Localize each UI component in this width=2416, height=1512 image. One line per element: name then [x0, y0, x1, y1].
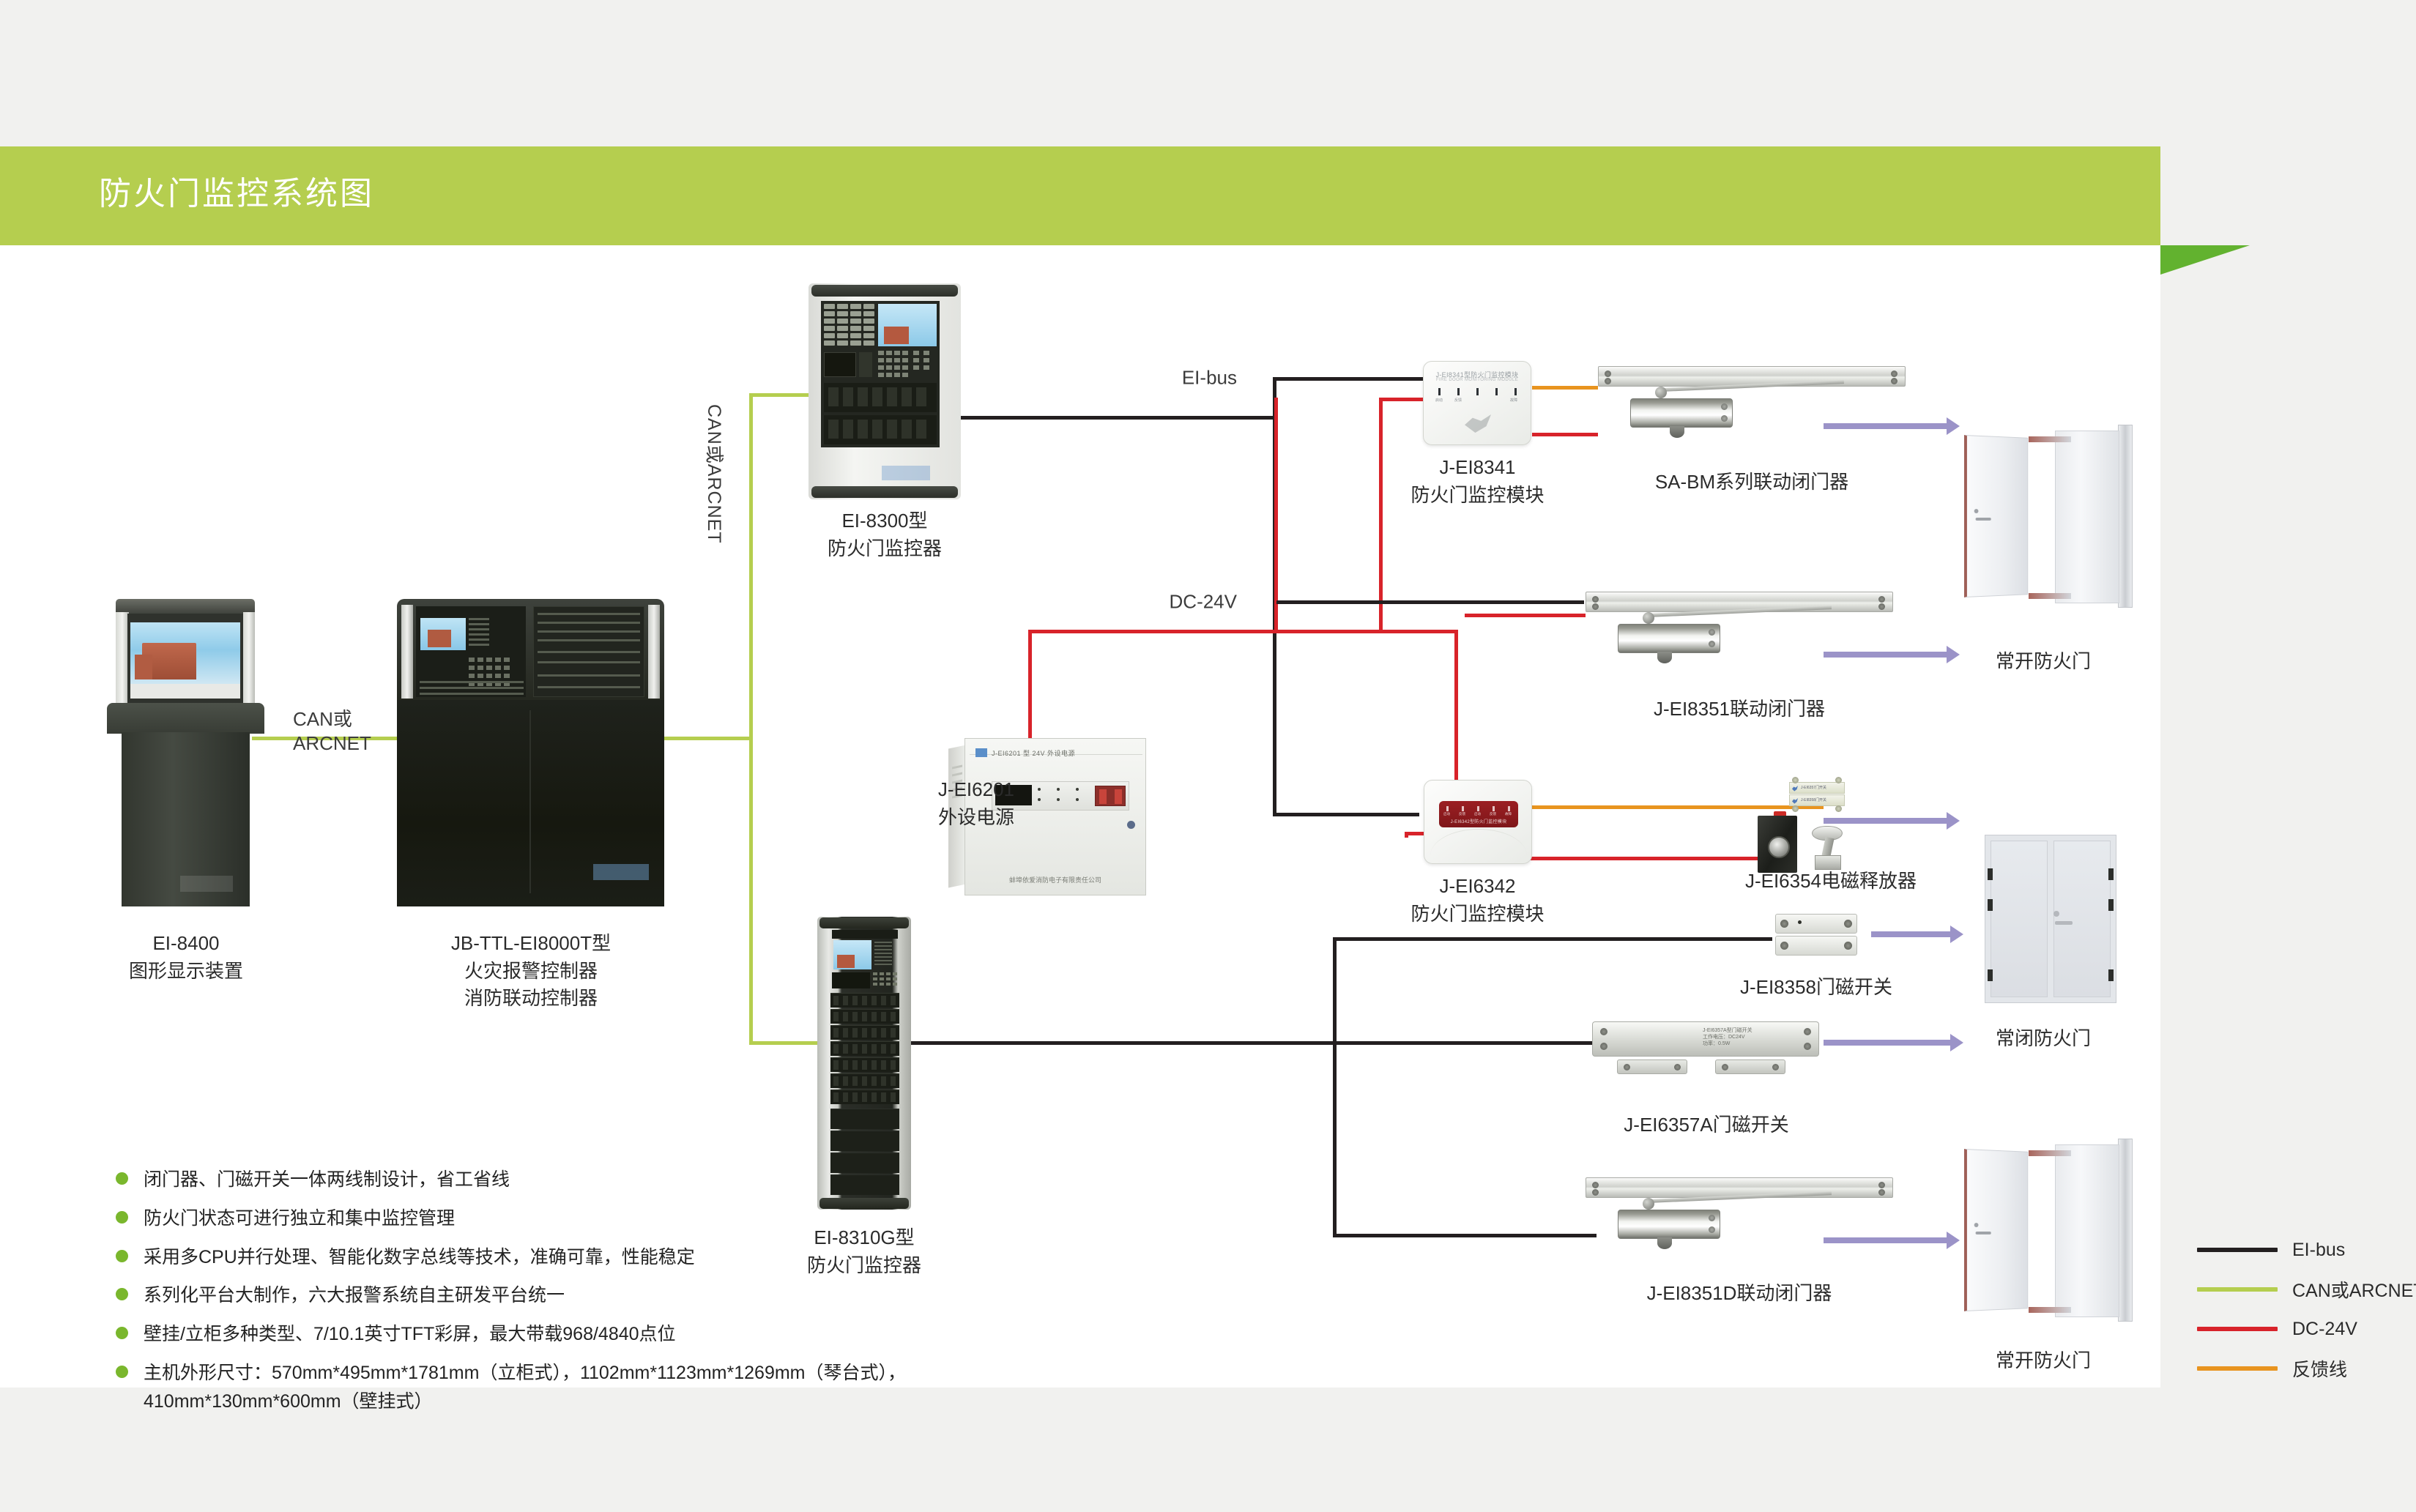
- device-ei8400-graphic-display[interactable]: [107, 599, 264, 906]
- door-switch-row-2: J-EI8358门开关: [1789, 794, 1845, 806]
- door-threshold-bottom-2: [2029, 1307, 2071, 1313]
- door-normally-closed-middle: [1985, 835, 2116, 1003]
- wire-ei-bus-from-ei8310g: [911, 1041, 1336, 1045]
- ei8358-indicator-dot: [1798, 920, 1802, 924]
- ei8300-bottom-cap: [811, 486, 958, 498]
- ei8310g-module-slot: [830, 1009, 899, 1024]
- ei6342-led-label-2: 启动: [1474, 812, 1481, 816]
- ei8300-printer-slot: [824, 352, 856, 377]
- ei6357a-label-block: J-EI6357A型门磁开关 工作电压：DC24V 功率：0.5W: [1703, 1028, 1752, 1047]
- ei8400-screen-housing: [127, 614, 243, 709]
- caption-ei8400-desc: 图形显示装置: [105, 958, 267, 986]
- door-right-leaf-middle: [2053, 841, 2111, 997]
- wire-ei-bus-lower-vertical: [1333, 937, 1337, 1237]
- ei8310g-top-cap: [819, 917, 909, 928]
- ei8300-led-bank-upper: [824, 383, 937, 412]
- caption-ei8400: EI-8400 图形显示装置: [105, 930, 267, 985]
- device-ei6342-monitoring-module[interactable]: 启动 反馈 启动 反馈 故障 J-EI6342型防火门监控模块: [1424, 780, 1532, 864]
- ei8310g-header-label: [832, 930, 898, 939]
- ei8400-right-rail: [243, 612, 255, 707]
- caption-ei8300-desc: 防火门监控器: [806, 535, 964, 563]
- ei8300-model-label: [882, 466, 930, 480]
- arrow-to-top-door-lower: [1824, 652, 1948, 658]
- door-threshold-top-2: [2029, 1150, 2071, 1156]
- caption-jbttl-name: JB-TTL-EI8000T型: [395, 930, 666, 958]
- label-ei-bus: EI-bus: [1182, 367, 1256, 390]
- ei8300-screen-building-image: [884, 327, 909, 344]
- ei8341-led-label-0: 启动: [1435, 398, 1443, 403]
- ei8351-pivot: [1643, 612, 1654, 624]
- caption-ei6354: J-EI6354电磁释放器: [1684, 868, 1977, 895]
- ei8351d-closer-body: [1618, 1210, 1720, 1239]
- ei6342-panel-text: J-EI6342型防火门监控模块: [1439, 818, 1518, 824]
- ei6357a-mount-pad-left: [1617, 1059, 1687, 1074]
- ei8310g-led-column: [874, 940, 898, 969]
- ei8310g-module-slot: [830, 1073, 899, 1088]
- ei8400-top-bar: [116, 599, 255, 615]
- caption-jbttl: JB-TTL-EI8000T型 火灾报警控制器 消防联动控制器: [395, 930, 666, 1013]
- bullet-item-2: 采用多CPU并行处理、智能化数字总线等技术，准确可靠，性能稳定: [116, 1243, 980, 1272]
- caption-sabm: SA-BM系列联动闭门器: [1598, 469, 1906, 496]
- wire-ei-bus-to-ei8351: [1276, 600, 1584, 604]
- ei8358-lower-part: [1775, 936, 1857, 956]
- legend-row-ei-bus: EI-bus: [2197, 1230, 2416, 1270]
- sabm-pivot: [1655, 387, 1667, 398]
- caption-door-middle-text: 常闭防火门: [1948, 1025, 2138, 1053]
- bullet-item-5: 主机外形尺寸：570mm*495mm*1781mm（立柜式），1102mm*11…: [116, 1359, 980, 1416]
- legend: EI-bus CAN或ARCNET DC-24V 反馈线: [2197, 1230, 2416, 1388]
- door-fixed-leaf-bottom: [2055, 1144, 2119, 1317]
- ei8351d-pivot: [1643, 1198, 1654, 1210]
- ei6201-header-band: J-EI6201 型 24V 外设电源: [970, 743, 1142, 755]
- caption-ei6357a-name: J-EI6357A门磁开关: [1589, 1111, 1824, 1139]
- ei8300-keypad[interactable]: [878, 351, 937, 380]
- wire-dc24v-joint-6342: [1405, 832, 1408, 838]
- ei8358-upper-part: [1775, 914, 1857, 934]
- ei8310g-module-slot: [830, 1041, 899, 1056]
- door-switch-row-1: J-EI6357门开关: [1789, 782, 1845, 794]
- wire-ei-bus-to-ei6342: [1273, 813, 1419, 816]
- ei8300-screen: [878, 304, 937, 346]
- wire-ei-bus-to-ei8358: [1333, 937, 1772, 941]
- legend-row-can-arcnet: CAN或ARCNET: [2197, 1270, 2416, 1309]
- wire-dc24v-branch-right: [1274, 630, 1457, 633]
- door-fixed-leaf-top: [2055, 431, 2119, 603]
- wire-can-arcnet-trunk-vertical: [749, 393, 753, 1045]
- page-title: 防火门监控系统图: [99, 167, 374, 214]
- ei6342-led-label-0: 启动: [1443, 812, 1450, 816]
- arrow-to-top-door-upper: [1824, 423, 1948, 429]
- ei8400-screen-caption-strip: [130, 684, 240, 699]
- wire-ei-bus-to-ei8351d: [1333, 1234, 1597, 1237]
- bullet-item-0: 闭门器、门磁开关一体两线制设计，省工省线: [116, 1166, 980, 1194]
- ei6201-power-switches[interactable]: [1095, 786, 1126, 806]
- wire-can-arcnet-to-ei8310g: [749, 1041, 822, 1045]
- caption-ei6201-name: J-EI6201: [875, 776, 1014, 804]
- ei8341-led-row: 启动 反馈 故障: [1437, 388, 1519, 404]
- wire-feedback-ei8341-to-sabm: [1532, 386, 1598, 390]
- wire-dc24v-to-ei8351: [1465, 614, 1586, 617]
- ei8351-closer-body: [1618, 624, 1720, 653]
- door-frame-top: [2118, 425, 2133, 608]
- door-threshold-top: [2029, 436, 2071, 442]
- caption-ei8358: J-EI8358门磁开关: [1684, 974, 1948, 1002]
- caption-ei6342: J-EI6342 防火门监控模块: [1391, 873, 1564, 928]
- feature-bullet-list: 闭门器、门磁开关一体两线制设计，省工省线 防火门状态可进行独立和集中监控管理 采…: [116, 1166, 980, 1426]
- caption-jbttl-desc2: 消防联动控制器: [395, 985, 666, 1013]
- device-ei8300-fire-door-monitor[interactable]: [809, 283, 961, 499]
- ei8400-brand-logo: [180, 876, 233, 892]
- caption-ei6342-name: J-EI6342: [1391, 873, 1564, 901]
- caption-door-top: 常开防火门: [1948, 648, 2138, 676]
- ei6357a-mount-pad-right: [1715, 1059, 1785, 1074]
- caption-ei8400-name: EI-8400: [105, 930, 267, 958]
- ei6201-panel-text: J-EI6201 型 24V 外设电源: [992, 748, 1075, 758]
- label-dc-24v: DC-24V: [1170, 591, 1256, 614]
- jbttl-door-split: [529, 710, 531, 893]
- jbttl-led-bank: [469, 617, 521, 652]
- label-can-arcnet-vertical: CAN或ARCNET: [702, 404, 729, 544]
- ei6201-brand-badge: [975, 748, 987, 757]
- wire-dc24v-riser-8341: [1379, 398, 1383, 632]
- legend-label-ei-bus: EI-bus: [2292, 1240, 2345, 1261]
- jbttl-left-trim: [401, 605, 413, 699]
- caption-ei6342-desc: 防火门监控模块: [1391, 901, 1564, 928]
- device-door-switch-pair: J-EI6357门开关 J-EI8358门开关: [1789, 776, 1845, 813]
- ei8351d-mount-bracket: [1657, 1237, 1672, 1249]
- ei8310g-module-slot: [830, 993, 899, 1008]
- ei6357a-main-bar: J-EI6357A型门磁开关 工作电压：DC24V 功率：0.5W: [1592, 1021, 1819, 1057]
- ei8300-speaker-grille: [859, 352, 872, 377]
- door-lock-bottom: [1974, 1223, 1979, 1227]
- device-ei8351d-door-closer[interactable]: [1586, 1177, 1893, 1245]
- bullet-item-1: 防火门状态可进行独立和集中监控管理: [116, 1204, 980, 1233]
- caption-ei8358-name: J-EI8358门磁开关: [1684, 974, 1948, 1002]
- ei8400-desk-top: [107, 703, 264, 734]
- ei8341-panel-subtitle: FIRE DOOR MONITORING MODULE: [1424, 378, 1531, 382]
- diagram-canvas: 防火门监控系统图 EI-bus DC-24V CAN或 ARCNET CAN或A…: [0, 0, 2416, 1512]
- ei6357a-spec-1: 工作电压：DC24V: [1703, 1035, 1752, 1041]
- ei6357a-label-text: J-EI6357A型门磁开关: [1703, 1028, 1752, 1035]
- wire-dc24v-vertical-up: [1274, 398, 1278, 632]
- device-jbttl-ei8000t-cabinet[interactable]: [397, 599, 664, 906]
- caption-jbttl-desc1: 火灾报警控制器: [395, 958, 666, 986]
- ei6354-magnet-face: [1768, 836, 1790, 858]
- wire-dc24v-psu-riser: [1028, 630, 1032, 738]
- caption-ei8300-name: EI-8300型: [806, 507, 964, 535]
- door-lock-top: [1974, 509, 1979, 513]
- jbttl-brand-logo: [593, 864, 649, 880]
- caption-door-bottom-text: 常开防火门: [1948, 1347, 2138, 1375]
- ei8300-top-cap: [811, 285, 958, 297]
- ei6342-led-label-4: 故障: [1505, 812, 1512, 816]
- door-normally-open-bottom: [1964, 1139, 2133, 1322]
- ei8310g-keypad[interactable]: [873, 972, 898, 988]
- arrow-to-middle-door-lower: [1824, 1040, 1952, 1046]
- caption-ei6354-name: J-EI6354电磁释放器: [1684, 868, 1977, 895]
- door-handle-bottom: [1976, 1232, 1991, 1234]
- door-lock-middle: [2053, 911, 2059, 917]
- caption-door-middle: 常闭防火门: [1948, 1025, 2138, 1053]
- wire-ei-bus-to-ei6357a: [1333, 1041, 1593, 1045]
- device-ei6357a-door-magnetic-switch[interactable]: J-EI6357A型门磁开关 工作电压：DC24V 功率：0.5W: [1592, 1021, 1819, 1076]
- wire-can-arcnet-to-ei8300: [749, 393, 815, 397]
- door-handle-top: [1976, 518, 1991, 521]
- arrow-to-bottom-door: [1824, 1237, 1948, 1243]
- wire-can-arcnet-jbttl-right: [659, 737, 753, 740]
- ei8310g-blank-panel: [830, 1109, 899, 1129]
- caption-ei8351d: J-EI8351D联动闭门器: [1586, 1280, 1893, 1308]
- jbttl-right-trim: [648, 605, 660, 699]
- door-frame-bottom: [2118, 1139, 2133, 1322]
- caption-ei6357a: J-EI6357A门磁开关: [1589, 1111, 1824, 1139]
- ei8310g-module-slot: [830, 1025, 899, 1040]
- door-handle-middle: [2055, 921, 2073, 925]
- caption-ei8341-desc: 防火门监控模块: [1391, 482, 1564, 510]
- door-swinging-leaf-top: [1964, 435, 2028, 597]
- ei8310g-module-slot: [830, 1057, 899, 1072]
- ei8310g-blank-panel: [830, 1131, 899, 1151]
- ribbon-fold-decoration: [2160, 245, 2250, 275]
- door-switch-row-2-label: J-EI8358门开关: [1801, 797, 1826, 802]
- ei8341-brand-logo: [1465, 414, 1491, 433]
- device-ei8358-door-magnetic-switch[interactable]: [1775, 914, 1857, 956]
- caption-ei6201-desc: 外设电源: [875, 804, 1014, 832]
- ei6201-door-lock[interactable]: [1127, 821, 1135, 829]
- caption-door-bottom: 常开防火门: [1948, 1347, 2138, 1375]
- ei8310g-screen-building-image: [837, 955, 855, 968]
- arrow-to-middle-door-mid: [1871, 931, 1952, 937]
- wire-dc24v-ei8341-to-sabm: [1532, 433, 1598, 436]
- caption-door-top-text: 常开防火门: [1948, 648, 2138, 676]
- ei8400-screen: [130, 622, 240, 684]
- ei8300-front-face: [821, 301, 940, 447]
- ei8400-screen-building-image: [142, 643, 196, 679]
- caption-ei8351-name: J-EI8351联动闭门器: [1586, 696, 1893, 723]
- legend-swatch-dc24v: [2197, 1327, 2278, 1331]
- ei8341-led-label-4: 故障: [1510, 398, 1517, 403]
- caption-ei8351: J-EI8351联动闭门器: [1586, 696, 1893, 723]
- device-ei8351-door-closer[interactable]: [1586, 592, 1893, 659]
- jbttl-control-panel: [416, 606, 526, 697]
- device-ei6354-electromagnetic-releaser[interactable]: [1758, 810, 1803, 873]
- door-swinging-leaf-bottom: [1964, 1149, 2028, 1311]
- door-threshold-bottom: [2029, 593, 2071, 599]
- ei8310g-screen: [833, 940, 871, 969]
- jbttl-module-rack: [533, 606, 644, 697]
- jbttl-screen-building-image: [428, 630, 451, 647]
- sabm-mount-bracket: [1670, 426, 1684, 438]
- wire-ei-bus-from-ei8300: [958, 416, 1276, 420]
- bullet-item-3: 系列化平台大制作，六大报警系统自主研发平台统一: [116, 1281, 980, 1310]
- legend-swatch-ei-bus: [2197, 1248, 2278, 1252]
- ei6342-led-label-1: 反馈: [1459, 812, 1465, 816]
- caption-ei8351d-name: J-EI8351D联动闭门器: [1586, 1280, 1893, 1308]
- wire-ei-bus-to-ei8341: [1273, 377, 1423, 381]
- wire-dc24v-psu-to-trunk: [1028, 630, 1277, 633]
- ei8341-led-label-1: 反馈: [1454, 398, 1462, 403]
- legend-swatch-can-arcnet: [2197, 1287, 2278, 1292]
- jbttl-screen: [420, 618, 466, 650]
- door-normally-open-top: [1964, 425, 2133, 608]
- bullet-item-4: 壁挂/立柜多种类型、7/10.1英寸TFT彩屏，最大带载968/4840点位: [116, 1320, 980, 1349]
- wire-dc24v-into-ei8341: [1379, 398, 1424, 401]
- ei6201-led-indicators: [1038, 786, 1089, 805]
- ei8310g-module-slot: [830, 1090, 899, 1104]
- device-ei8341-monitoring-module[interactable]: J-EI8341型防火门监控模块 FIRE DOOR MONITORING MO…: [1423, 361, 1531, 445]
- label-can-arcnet-line2: ARCNET: [293, 732, 371, 755]
- arrow-to-middle-door-upper: [1824, 818, 1948, 824]
- caption-ei8341: J-EI8341 防火门监控模块: [1391, 454, 1564, 509]
- legend-label-dc24v: DC-24V: [2292, 1319, 2357, 1340]
- ei6201-footer-text: 蚌埠依爱消防电子有限责任公司: [1009, 875, 1101, 885]
- ei8310g-printer-slot: [832, 972, 870, 988]
- caption-ei8341-name: J-EI8341: [1391, 454, 1564, 482]
- legend-row-dc24v: DC-24V: [2197, 1309, 2416, 1349]
- legend-label-feedback: 反馈线: [2292, 1355, 2347, 1382]
- caption-ei8300: EI-8300型 防火门监控器: [806, 507, 964, 562]
- ei6342-indicator-plate: 启动 反馈 启动 反馈 故障 J-EI6342型防火门监控模块: [1439, 801, 1518, 827]
- caption-ei6201: J-EI6201 外设电源: [875, 776, 1014, 831]
- ei8300-button-grid[interactable]: [824, 304, 875, 349]
- label-can-arcnet-line1: CAN或: [293, 704, 352, 731]
- ei6357a-spec-2: 功率：0.5W: [1703, 1041, 1752, 1048]
- ei6342-case-contour: [1430, 829, 1527, 861]
- door-left-leaf-middle: [1991, 841, 2048, 997]
- door-switch-row-1-label: J-EI6357门开关: [1801, 785, 1826, 790]
- ei6342-led-label-3: 反馈: [1490, 812, 1496, 816]
- sabm-closer-body: [1630, 398, 1733, 428]
- ei8300-led-bank-lower: [824, 415, 937, 444]
- ei8351-mount-bracket: [1657, 652, 1672, 663]
- legend-swatch-feedback: [2197, 1366, 2278, 1371]
- caption-sabm-name: SA-BM系列联动闭门器: [1598, 469, 1906, 496]
- legend-row-feedback: 反馈线: [2197, 1349, 2416, 1388]
- legend-label-can-arcnet: CAN或ARCNET: [2292, 1276, 2416, 1303]
